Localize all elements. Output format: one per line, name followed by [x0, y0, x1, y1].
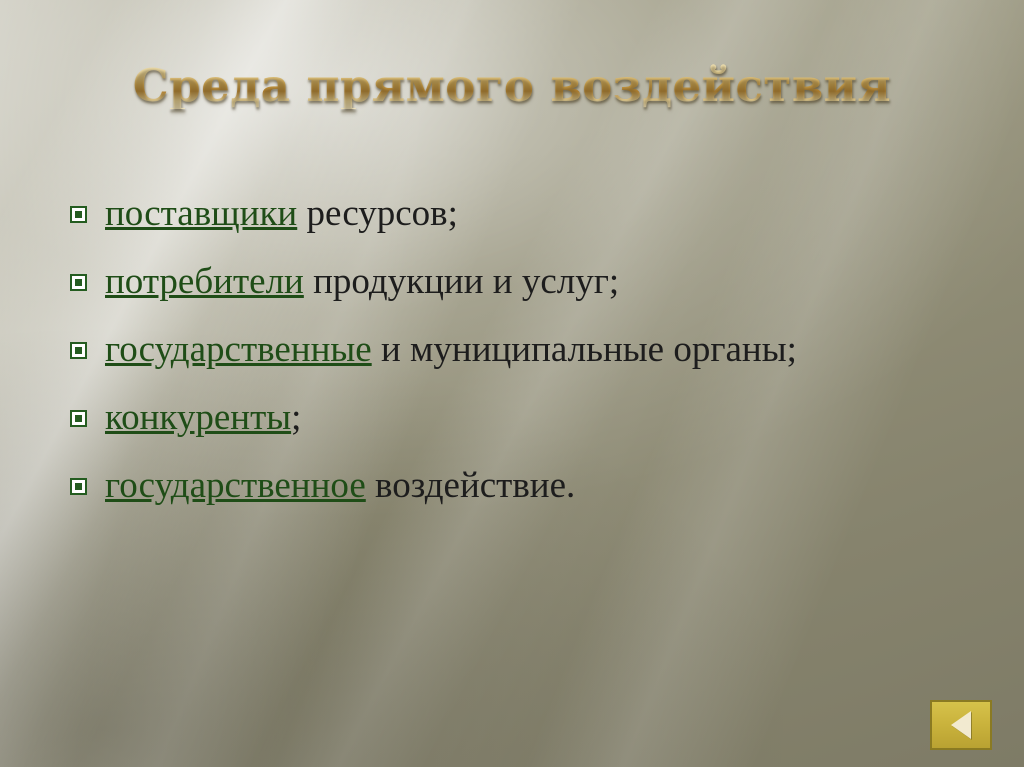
list-item-text: государственные и муниципальные органы;: [105, 326, 797, 374]
list-item-keyword: поставщики: [105, 193, 297, 234]
slide-title-container: Среда прямого воздействия: [0, 62, 1024, 109]
list-item-rest: воздействие.: [366, 465, 576, 506]
list-item-rest: ресурсов;: [297, 193, 458, 234]
list-item-keyword: государственное: [105, 465, 366, 506]
list-item-rest: продукции и услуг;: [304, 261, 619, 302]
list-item-keyword: конкуренты: [105, 397, 291, 438]
list-item-rest: и муниципальные органы;: [372, 329, 797, 370]
square-bullet-icon: [70, 274, 87, 291]
triangle-left-icon: [951, 711, 971, 739]
list-item-keyword: государственные: [105, 329, 372, 370]
bullet-list: поставщики ресурсов; потребители продукц…: [70, 190, 950, 530]
list-item-text: государственное воздействие.: [105, 462, 575, 510]
page-title: Среда прямого воздействия: [133, 62, 891, 109]
list-item-text: поставщики ресурсов;: [105, 190, 458, 238]
list-item-keyword: потребители: [105, 261, 304, 302]
list-item-text: потребители продукции и услуг;: [105, 258, 619, 306]
list-item: поставщики ресурсов;: [70, 190, 950, 238]
list-item: конкуренты;: [70, 394, 950, 442]
square-bullet-icon: [70, 342, 87, 359]
list-item: государственное воздействие.: [70, 462, 950, 510]
list-item-text: конкуренты;: [105, 394, 301, 442]
list-item: потребители продукции и услуг;: [70, 258, 950, 306]
list-item-rest: ;: [291, 397, 301, 438]
previous-slide-button[interactable]: [930, 700, 992, 750]
square-bullet-icon: [70, 206, 87, 223]
square-bullet-icon: [70, 478, 87, 495]
square-bullet-icon: [70, 410, 87, 427]
presentation-slide: Среда прямого воздействия поставщики рес…: [0, 0, 1024, 767]
list-item: государственные и муниципальные органы;: [70, 326, 950, 374]
